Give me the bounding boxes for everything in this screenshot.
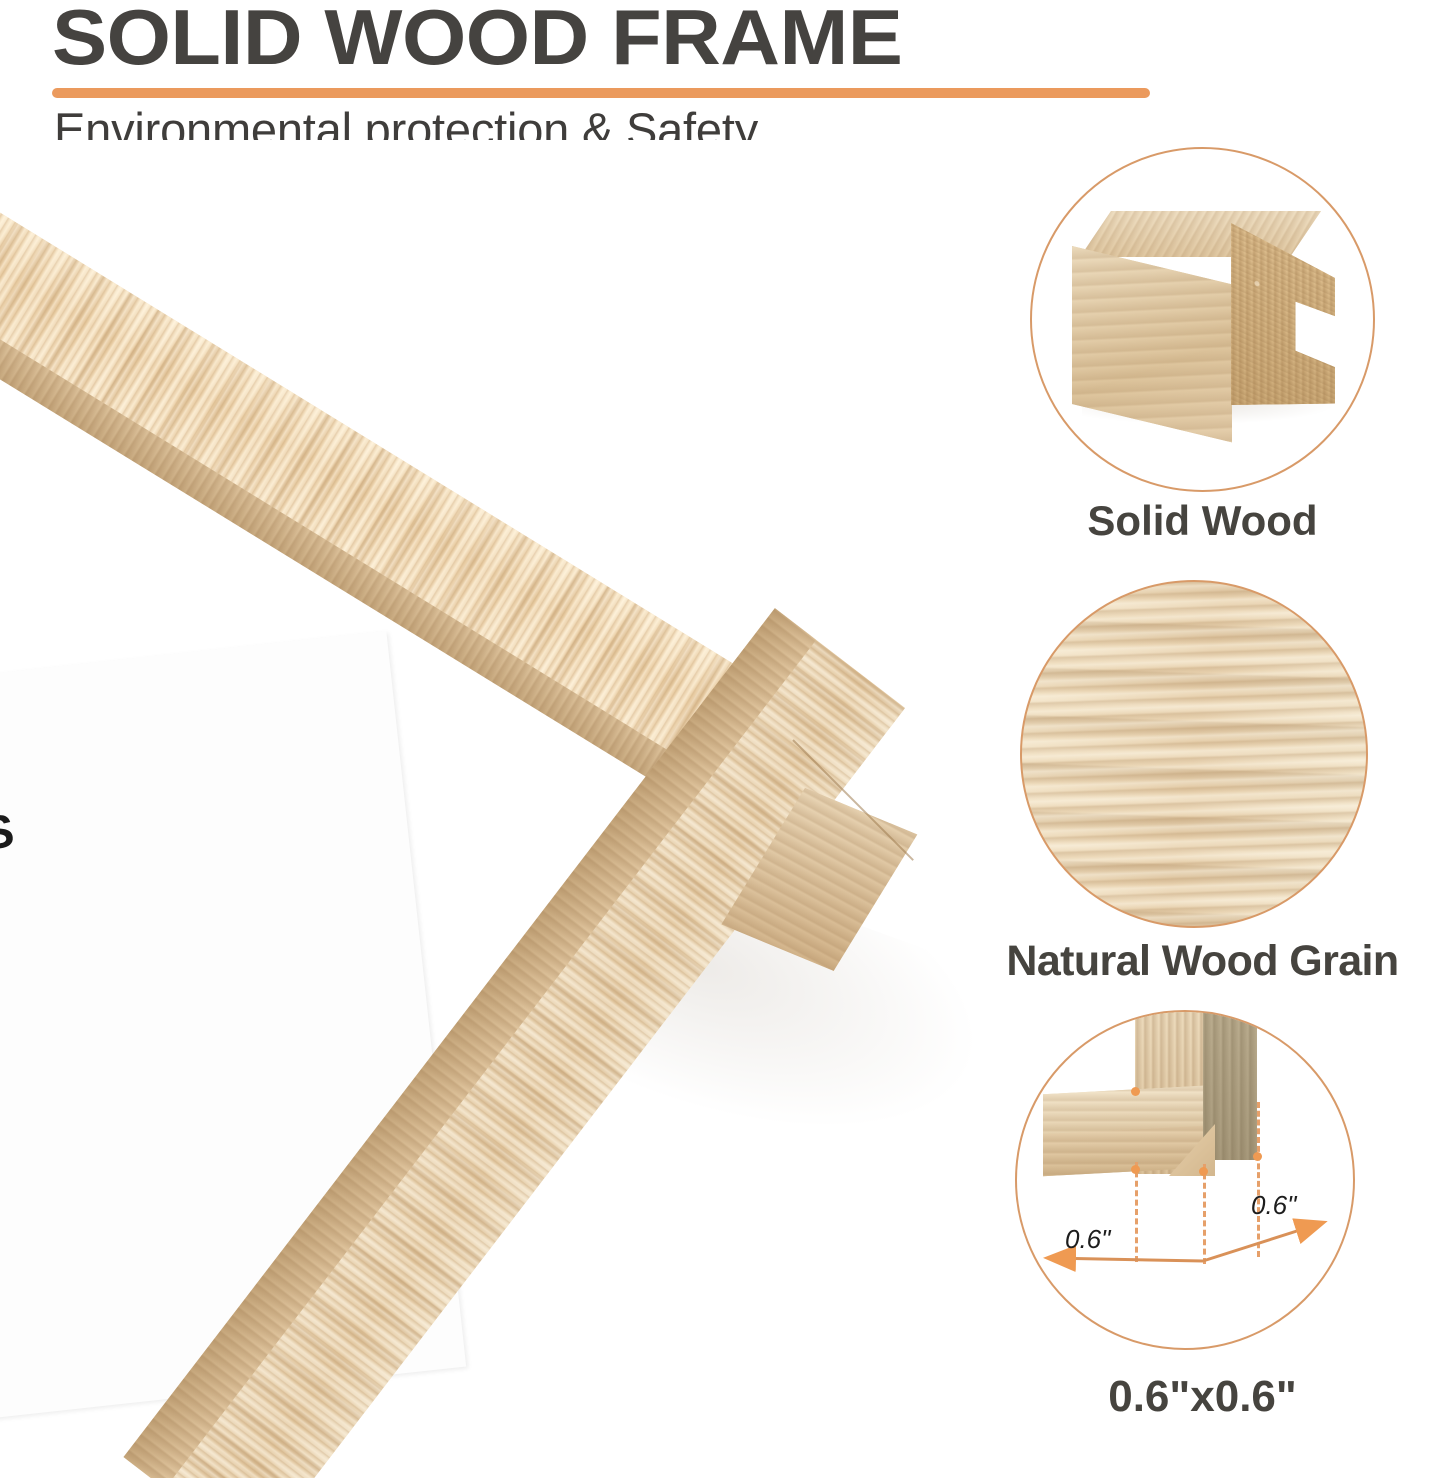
wood-block-profile-icon [1072, 211, 1322, 426]
dimension-leader-right [1257, 1102, 1260, 1257]
dimension-text-right: 0.6" [1251, 1190, 1296, 1221]
dimension-dot-mid-base [1199, 1167, 1208, 1176]
feature-label-dimensions: 0.6"x0.6" [960, 1375, 1445, 1419]
feature-label-wood-grain: Natural Wood Grain [960, 940, 1445, 983]
dimension-dot-inner-base [1131, 1165, 1140, 1174]
dimension-leader-left [1135, 1162, 1138, 1262]
feature-label-solid-wood: Solid Wood [960, 500, 1445, 542]
wood-block-end-grain-profile [1231, 223, 1335, 429]
wood-block-top-face [1080, 211, 1321, 257]
feature-circle-solid-wood [1030, 147, 1375, 492]
dimension-text-left: 0.6" [1065, 1224, 1110, 1255]
solid-wood-frame-corner-photo: ES [0, 140, 1010, 1478]
dimension-leader-mid [1203, 1164, 1206, 1264]
feature-sidebar: Solid Wood Natural Wood Grain 0 [960, 0, 1445, 1478]
feature-circle-dimensions: 0.6" 0.6" [1015, 1010, 1355, 1350]
page-title: SOLID WOOD FRAME [52, 0, 902, 76]
mat-partial-text: ES [0, 802, 17, 864]
dimension-dot-inner-top [1131, 1087, 1140, 1096]
dimension-dot-outer-base [1253, 1152, 1262, 1161]
feature-circle-wood-grain [1020, 580, 1368, 928]
